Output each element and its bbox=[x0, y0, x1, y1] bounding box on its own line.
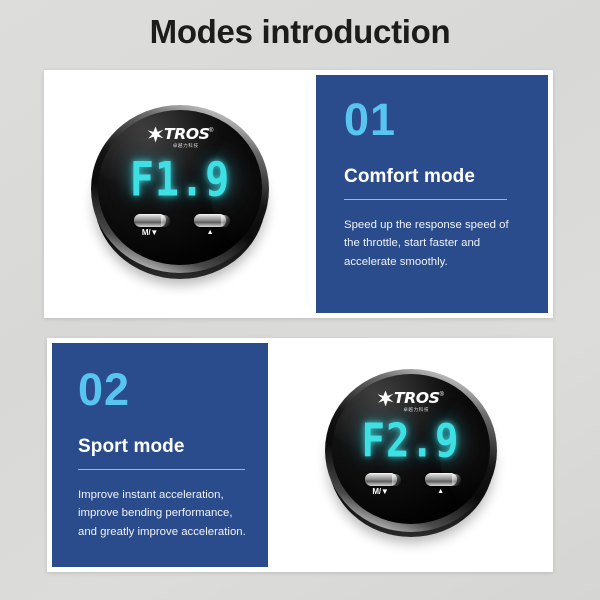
device-face: TROS ® 卓越力科技 F2.9 M/▼ ▲ bbox=[332, 374, 490, 524]
led-display: F2.9 bbox=[332, 415, 490, 468]
registered-mark: ® bbox=[439, 392, 443, 398]
mode-title: Sport mode bbox=[78, 436, 246, 458]
mode-down-label: M/▼ bbox=[372, 488, 388, 496]
mode-down-label: M/▼ bbox=[142, 229, 158, 237]
throttle-controller-device: TROS ® 卓越力科技 F2.9 M/▼ ▲ bbox=[325, 369, 497, 541]
info-pane-sport: 02 Sport mode Improve instant accelerati… bbox=[52, 343, 268, 567]
mode-down-button[interactable]: M/▼ bbox=[365, 473, 397, 496]
throttle-controller-device: TROS ® 卓越力科技 F1.9 M/▼ ▲ bbox=[91, 105, 269, 283]
brand-name: TROS bbox=[394, 391, 440, 406]
divider bbox=[344, 199, 507, 200]
led-display: F1.9 bbox=[98, 153, 262, 207]
brand-name: TROS bbox=[164, 127, 210, 142]
up-label: ▲ bbox=[207, 229, 214, 236]
device-pane: TROS ® 卓越力科技 F1.9 M/▼ ▲ bbox=[44, 75, 316, 313]
device-button-row: M/▼ ▲ bbox=[332, 473, 490, 496]
mode-down-key[interactable] bbox=[365, 473, 397, 486]
brand-subtext: 卓越力科技 bbox=[173, 143, 199, 149]
mode-down-key[interactable] bbox=[134, 214, 166, 227]
page-title: Modes introduction bbox=[0, 13, 600, 51]
device-face: TROS ® 卓越力科技 F1.9 M/▼ ▲ bbox=[98, 110, 262, 265]
mode-description: Improve instant acceleration, improve be… bbox=[78, 486, 246, 541]
up-key[interactable] bbox=[194, 214, 226, 227]
registered-mark: ® bbox=[209, 128, 213, 134]
up-button[interactable]: ▲ bbox=[425, 473, 457, 496]
mode-card-comfort: TROS ® 卓越力科技 F1.9 M/▼ ▲ 0 bbox=[44, 70, 553, 318]
star-x-icon bbox=[377, 390, 394, 407]
brand-logo: TROS ® 卓越力科技 bbox=[98, 127, 262, 143]
mode-description: Speed up the response speed of the throt… bbox=[344, 216, 522, 271]
up-label: ▲ bbox=[437, 488, 444, 495]
brand-subtext: 卓越力科技 bbox=[403, 407, 429, 413]
mode-title: Comfort mode bbox=[344, 166, 522, 188]
mode-number: 02 bbox=[78, 367, 246, 412]
device-pane: TROS ® 卓越力科技 F2.9 M/▼ ▲ bbox=[268, 343, 553, 567]
brand-logo: TROS ® 卓越力科技 bbox=[332, 391, 490, 407]
info-pane-comfort: 01 Comfort mode Speed up the response sp… bbox=[316, 75, 548, 313]
mode-down-button[interactable]: M/▼ bbox=[134, 214, 166, 237]
divider bbox=[78, 469, 245, 470]
star-x-icon bbox=[147, 126, 164, 143]
mode-card-sport: 02 Sport mode Improve instant accelerati… bbox=[47, 338, 553, 572]
up-button[interactable]: ▲ bbox=[194, 214, 226, 237]
up-key[interactable] bbox=[425, 473, 457, 486]
mode-number: 01 bbox=[344, 97, 522, 142]
device-button-row: M/▼ ▲ bbox=[98, 214, 262, 237]
